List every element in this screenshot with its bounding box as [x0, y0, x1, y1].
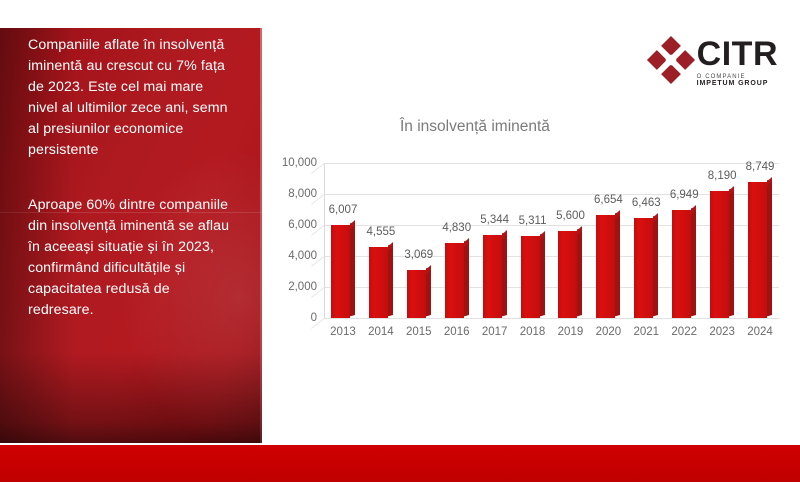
- bar-side-face: [464, 240, 469, 316]
- bottom-accent-band: [0, 445, 800, 482]
- bar[interactable]: [407, 270, 426, 318]
- bar[interactable]: [710, 191, 729, 318]
- bar-value-label: 6,654: [594, 194, 623, 206]
- bar-value-label: 4,830: [442, 222, 471, 234]
- insight-text-growth: Companiile aflate în insolvență iminentă…: [28, 35, 233, 161]
- bar-side-face: [691, 207, 696, 316]
- bar-value-label: 6,949: [670, 189, 699, 201]
- bar-group[interactable]: 4,8302016: [445, 163, 469, 318]
- bar-side-face: [388, 244, 393, 316]
- bar-group[interactable]: 6,9492022: [672, 163, 696, 318]
- bar-group[interactable]: 8,7492024: [748, 163, 772, 318]
- bar-value-label: 8,749: [746, 161, 775, 173]
- bar-group[interactable]: 8,1902023: [710, 163, 734, 318]
- bar-value-label: 4,555: [366, 226, 395, 238]
- bar-group[interactable]: 3,0692015: [407, 163, 431, 318]
- bar-side-face: [767, 179, 772, 316]
- bar[interactable]: [558, 231, 577, 318]
- bar-value-label: 5,600: [556, 210, 585, 222]
- x-axis-tick: 2024: [747, 326, 773, 338]
- bar-value-label: 8,190: [708, 170, 737, 182]
- x-axis-tick: 2018: [520, 326, 546, 338]
- gridline: [324, 318, 779, 319]
- x-axis-tick: 2014: [368, 326, 394, 338]
- y-axis-tick: 2,000: [288, 281, 317, 293]
- bar-side-face: [615, 212, 620, 317]
- chart-title: În insolvență iminentă: [400, 118, 550, 136]
- bar-side-face: [577, 228, 582, 316]
- x-axis-tick: 2022: [671, 326, 697, 338]
- bar-value-label: 5,311: [519, 215, 547, 227]
- bar[interactable]: [369, 247, 388, 318]
- x-axis-tick: 2016: [444, 326, 470, 338]
- bar[interactable]: [596, 215, 615, 318]
- citr-logo: CITR O COMPANIE IMPETUM GROUP: [654, 38, 778, 87]
- y-axis-tick: 10,000: [282, 157, 317, 169]
- bar[interactable]: [748, 182, 767, 318]
- bar-side-face: [729, 188, 734, 316]
- y-axis-tick: 6,000: [288, 219, 317, 231]
- bar[interactable]: [331, 225, 350, 318]
- bar-group[interactable]: 5,6002019: [558, 163, 582, 318]
- bar-group[interactable]: 4,5552014: [369, 163, 393, 318]
- y-axis-tick: 8,000: [288, 188, 317, 200]
- bar-value-label: 6,007: [329, 204, 358, 216]
- y-axis-tick: 4,000: [288, 250, 317, 262]
- bar-side-face: [426, 267, 431, 316]
- x-axis-tick: 2013: [330, 326, 356, 338]
- bar-group[interactable]: 6,0072013: [331, 163, 355, 318]
- bar-value-label: 3,069: [404, 249, 433, 261]
- chart-plot-area: 02,0004,0006,0008,00010,000 6,00720134,5…: [324, 163, 779, 318]
- x-axis-tick: 2023: [709, 326, 735, 338]
- logo-tagline-line2: IMPETUM GROUP: [697, 80, 778, 87]
- bar-group[interactable]: 6,6542020: [596, 163, 620, 318]
- x-axis-tick: 2021: [633, 326, 659, 338]
- bar-group[interactable]: 5,3112018: [521, 163, 545, 318]
- bar-side-face: [540, 233, 545, 317]
- chart-container: 02,0004,0006,0008,00010,000 6,00720134,5…: [262, 150, 800, 335]
- bar-side-face: [502, 232, 507, 316]
- bar-side-face: [653, 215, 658, 317]
- bar[interactable]: [672, 210, 691, 318]
- bar[interactable]: [521, 236, 540, 318]
- x-axis-tick: 2017: [482, 326, 508, 338]
- bar[interactable]: [483, 235, 502, 318]
- bar-side-face: [350, 222, 355, 317]
- bar-value-label: 5,344: [480, 214, 509, 226]
- x-axis-tick: 2015: [406, 326, 432, 338]
- bar[interactable]: [634, 218, 653, 318]
- y-axis-tick: 0: [311, 312, 317, 324]
- logo-wordmark: CITR: [697, 38, 778, 70]
- x-axis-tick: 2019: [558, 326, 584, 338]
- logo-text-group: CITR O COMPANIE IMPETUM GROUP: [697, 38, 778, 87]
- insight-text-recurrence: Aproape 60% dintre companiile din insolv…: [28, 195, 233, 321]
- x-axis-tick: 2020: [596, 326, 622, 338]
- bar-group[interactable]: 5,3442017: [483, 163, 507, 318]
- bar-value-label: 6,463: [632, 197, 661, 209]
- citr-diamond-icon: [647, 36, 695, 84]
- bar-group[interactable]: 6,4632021: [634, 163, 658, 318]
- bar[interactable]: [445, 243, 464, 318]
- chart-bars: 6,00720134,55520143,06920154,83020165,34…: [324, 163, 779, 318]
